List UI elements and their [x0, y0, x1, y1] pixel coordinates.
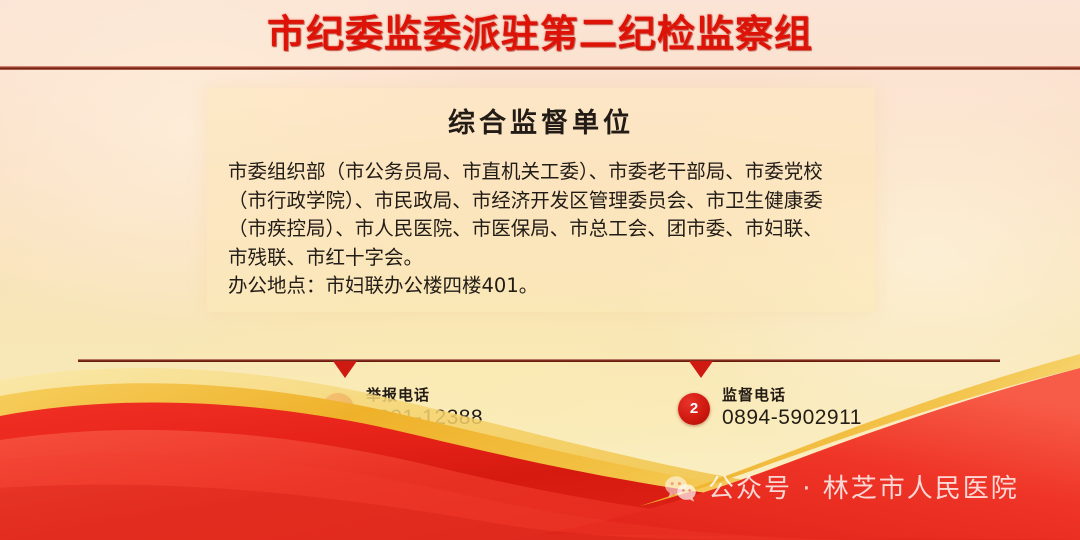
contact-supervision-phone: 2 监督电话 0894-5902911: [678, 386, 862, 431]
contact-text-group: 监督电话 0894-5902911: [722, 386, 862, 431]
wechat-icon: [664, 475, 698, 503]
card-body-line: （市疾控局）、市人民医院、市医保局、市总工会、团市委、市妇联、: [228, 215, 868, 244]
card-body-line: （市行政学院）、市民政局、市经济开发区管理委员会、市卫生健康委: [228, 187, 868, 216]
watermark-text: 公众号 · 林芝市人民医院: [708, 474, 1019, 504]
red-ribbon-decoration: [0, 310, 1080, 540]
page-title: 市纪委监委派驻第二纪检监察组: [0, 8, 1080, 60]
card-body-line: 市残联、市红十字会。: [228, 244, 868, 273]
watermark: 公众号 · 林芝市人民医院: [664, 474, 1019, 504]
pointer-triangle-icon: [689, 361, 713, 378]
badge-number: 1: [322, 393, 354, 425]
contact-number: 0891-12388: [366, 405, 483, 431]
card-body: 市委组织部（市公务员局、市直机关工委）、市委老干部局、市委党校 （市行政学院）、…: [228, 158, 868, 301]
poster-root: 市纪委监委派驻第二纪检监察组 综合监督单位 市委组织部（市公务员局、市直机关工委…: [0, 0, 1080, 540]
contact-label: 监督电话: [722, 386, 862, 405]
header-divider-rule: [0, 66, 1080, 70]
contact-report-phone: 1 举报电话 0891-12388: [322, 386, 483, 431]
card-body-line: 办公地点：市妇联办公楼四楼401。: [228, 272, 868, 301]
contact-text-group: 举报电话 0891-12388: [366, 386, 483, 431]
supervision-card: 综合监督单位 市委组织部（市公务员局、市直机关工委）、市委老干部局、市委党校 （…: [207, 88, 875, 312]
contact-divider-rule: [78, 359, 1000, 362]
pointer-triangle-icon: [333, 361, 357, 378]
card-title: 综合监督单位: [207, 106, 875, 142]
card-body-line: 市委组织部（市公务员局、市直机关工委）、市委老干部局、市委党校: [228, 158, 868, 187]
contact-number: 0894-5902911: [722, 405, 862, 431]
badge-number: 2: [678, 393, 710, 425]
contact-label: 举报电话: [366, 386, 483, 405]
